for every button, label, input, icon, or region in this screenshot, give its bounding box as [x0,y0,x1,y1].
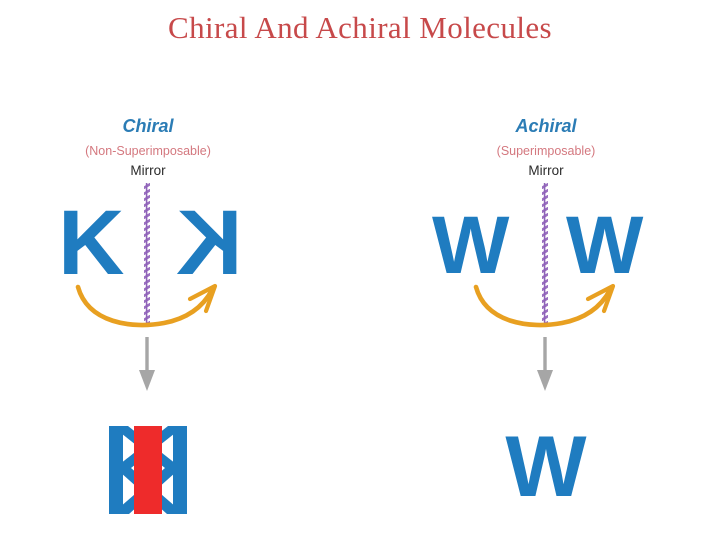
chiral-type-label: Chiral [0,116,298,137]
diagram-canvas: Chiral And Achiral Molecules Chiral (Non… [0,0,720,539]
chiral-mirror-label: Mirror [0,163,298,178]
achiral-result: W [396,424,696,510]
curve-arrow-icon [72,283,224,333]
achiral-letter-original: W [432,205,509,287]
panel-achiral: Achiral (Superimposable) Mirror W W [396,0,696,539]
overlapping-k-glyph [0,420,298,520]
chiral-letter-original: K [58,197,124,289]
chiral-result [0,420,298,520]
panel-chiral: Chiral (Non-Superimposable) Mirror K K [0,0,298,539]
achiral-mirror-label: Mirror [396,163,696,178]
achiral-type-label: Achiral [396,116,696,137]
achiral-letter-mirrored: W [566,205,643,287]
achiral-superimposable-label: (Superimposable) [396,144,696,158]
down-arrow-icon [134,336,160,392]
curve-arrow-icon [470,283,622,333]
chiral-letter-mirrored: K [176,197,242,289]
chiral-superimposable-label: (Non-Superimposable) [0,144,298,158]
down-arrow-icon [532,336,558,392]
